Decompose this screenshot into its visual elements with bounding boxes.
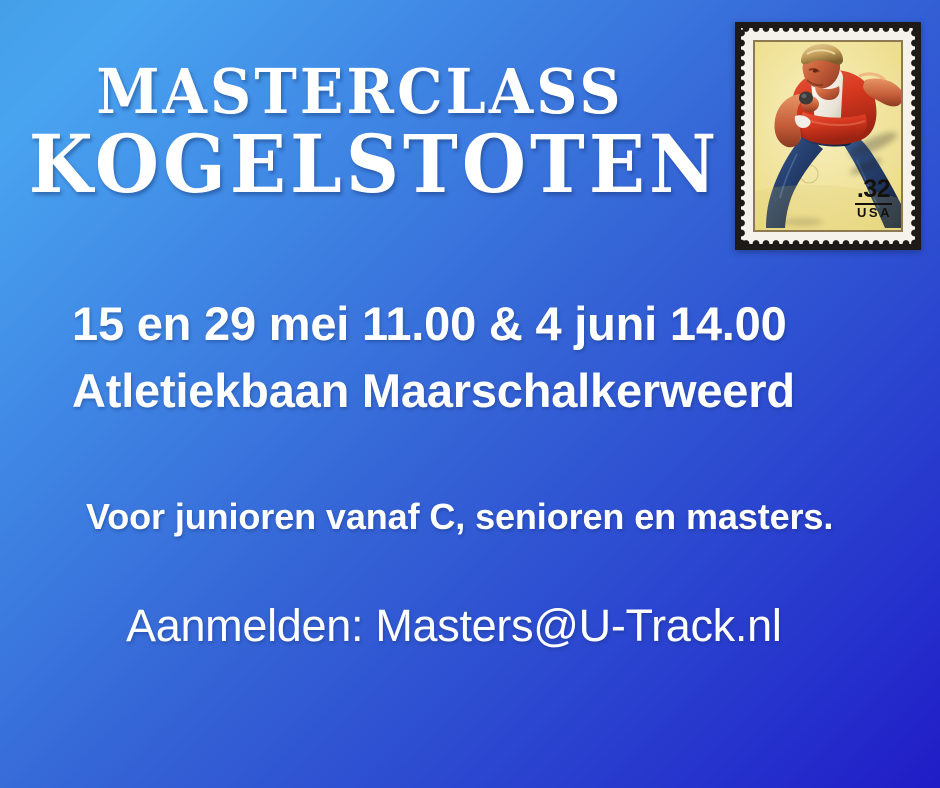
stamp-denomination: .32 USA: [855, 177, 892, 219]
postmark-smudge: [783, 218, 823, 226]
poster-info-block: 15 en 29 mei 11.00 & 4 juni 14.00 Atleti…: [0, 292, 940, 652]
event-dates-line: 15 en 29 mei 11.00 & 4 juni 14.00: [0, 292, 940, 357]
poster-title: MASTERCLASS KOGELSTOTEN: [0, 62, 720, 203]
signup-email-line: Aanmelden: Masters@U-Track.nl: [0, 600, 940, 652]
title-line-kogelstoten: KOGELSTOTEN: [29, 125, 691, 203]
stamp-country-label: USA: [855, 205, 892, 219]
stamp-inner-border: .32 USA: [753, 40, 903, 232]
stamp-denomination-value: .32: [855, 177, 892, 205]
postage-stamp-image: .32 USA: [735, 22, 921, 250]
poster-canvas: MASTERCLASS KOGELSTOTEN: [0, 0, 940, 788]
title-line-masterclass: MASTERCLASS: [29, 62, 691, 123]
target-group-line: Voor junioren vanaf C, senioren en maste…: [0, 496, 940, 538]
event-venue-line: Atletiekbaan Maarschalkerweerd: [0, 359, 940, 424]
